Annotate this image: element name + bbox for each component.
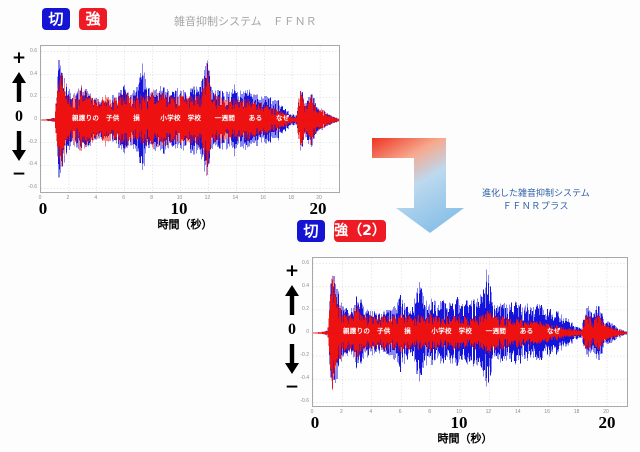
ytick: 0.2 (302, 306, 309, 312)
xtick-small: 8 (428, 409, 431, 415)
badge-bottom-off[interactable]: 切 (297, 220, 325, 242)
chart-top-xlabel-0: 0 (39, 199, 48, 219)
ytick: 0.6 (302, 260, 309, 266)
chart-bottom-xlabel-20: 20 (599, 413, 616, 433)
arrow-annotation-line1: 進化した雑音抑制システム (482, 189, 590, 199)
chart-top: 切 強 雑音抑制システム ＦＦＮＲ + 0 − 親譲りの 子供 損 小学校 学校… (0, 0, 360, 235)
xtick-small: 8 (150, 195, 153, 201)
plus-sign: + (12, 52, 26, 66)
ytick: -0.4 (28, 161, 37, 167)
xtick-small: 16 (260, 195, 266, 201)
xtick-small: 6 (399, 409, 402, 415)
xtick-small: 18 (574, 409, 580, 415)
xtick-small: 14 (515, 409, 521, 415)
zero-label: 0 (15, 110, 23, 124)
ytick: 0.4 (302, 283, 309, 289)
chart-bottom: 切 強（2） + 0 − 親譲りの 子供 損 小学校 学校 一週間 ある なぜ … (280, 215, 640, 452)
plus-sign: + (285, 265, 299, 279)
ytick: 0.4 (30, 71, 37, 77)
ytick: 0 (306, 329, 309, 335)
arrow-annotation-text: 進化した雑音抑制システム ＦＦＮＲプラス (482, 188, 590, 214)
chart-bottom-plot (312, 257, 628, 407)
xtick-small: 6 (122, 195, 125, 201)
xtick-small: 12 (486, 409, 492, 415)
badge-top-strong[interactable]: 強 (79, 8, 107, 30)
down-arrow-icon (11, 131, 27, 162)
chart-bottom-xlabel-0: 0 (311, 413, 320, 433)
minus-sign: − (12, 168, 26, 182)
ytick: -0.6 (28, 184, 37, 190)
chart-top-plot (40, 45, 340, 193)
chart-top-vertical-scale: + 0 − (8, 52, 30, 182)
zero-label: 0 (288, 323, 296, 337)
ytick: 0.6 (30, 48, 37, 54)
xtick-small: 4 (369, 409, 372, 415)
ytick: -0.6 (300, 398, 309, 404)
xtick-small: 16 (544, 409, 550, 415)
down-arrow-icon (284, 344, 300, 375)
xtick-small: 14 (233, 195, 239, 201)
ytick: -0.4 (300, 375, 309, 381)
xtick-small: 2 (67, 195, 70, 201)
arrow-annotation-line2: ＦＦＮＲプラス (482, 201, 590, 214)
up-arrow-icon (284, 285, 300, 316)
badge-bottom-strong2[interactable]: 強（2） (334, 220, 386, 242)
ytick: -0.2 (28, 139, 37, 145)
ytick: -0.2 (300, 352, 309, 358)
xtick-small: 12 (205, 195, 211, 201)
chart-top-title: 雑音抑制システム ＦＦＮＲ (174, 13, 317, 29)
chart-top-axis-caption: 時間（秒） (158, 216, 213, 232)
ytick: 0 (34, 116, 37, 122)
xtick-small: 2 (340, 409, 343, 415)
chart-bottom-axis-caption: 時間（秒） (438, 430, 493, 446)
ytick: 0.2 (30, 93, 37, 99)
minus-sign: − (285, 381, 299, 395)
up-arrow-icon (11, 72, 27, 103)
xtick-small: 18 (288, 195, 294, 201)
badge-top-off[interactable]: 切 (42, 8, 70, 30)
xtick-small: 4 (94, 195, 97, 201)
